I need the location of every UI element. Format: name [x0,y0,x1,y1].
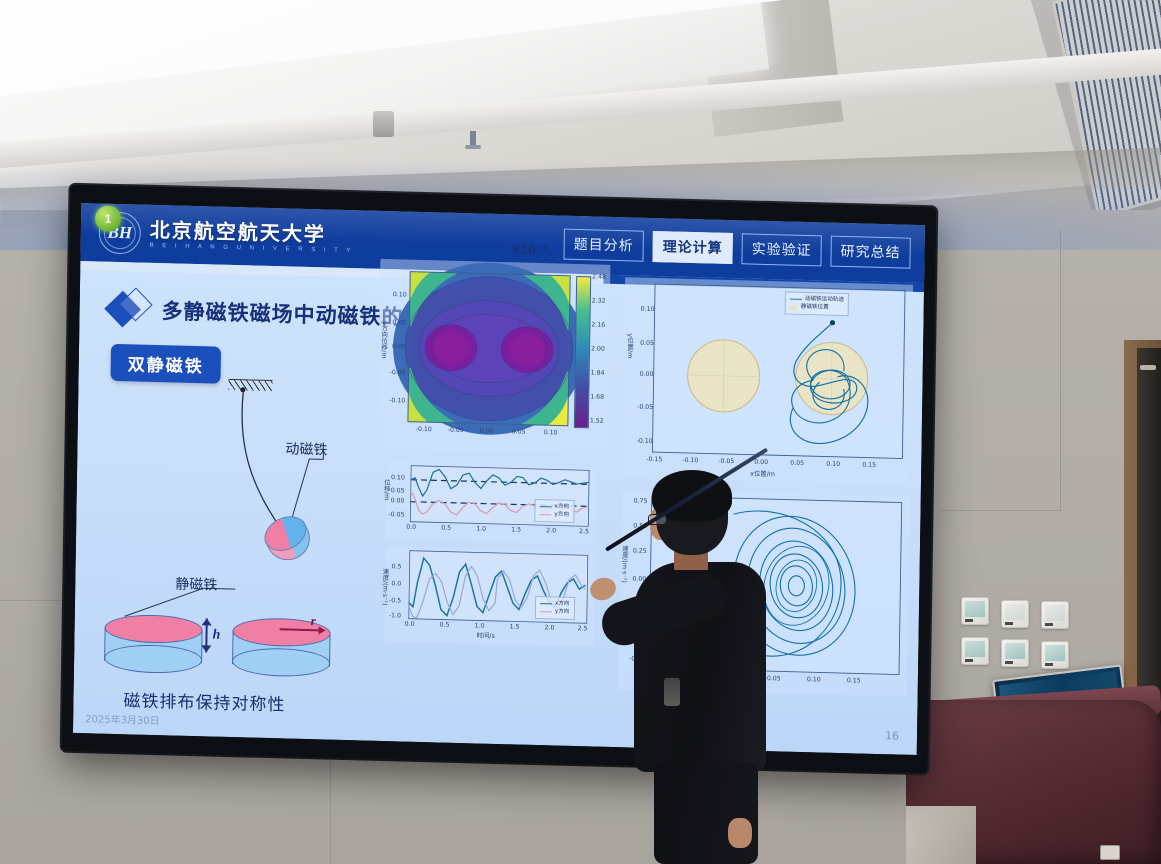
trajectory-xtick: -0.10 [682,457,698,464]
room-scene: BH 北京航空航天大学 B E I H A N G U N I V E R S … [0,0,1161,864]
velocity-xtick: 2.5 [578,625,588,632]
displacement-ylabel: 位移/m [383,479,392,500]
phase-xtick: 0.10 [807,676,821,683]
chart-velocity-time: 0.5 0.0 -0.5 -1.0 0.0 0.5 1.0 1.5 2.0 2.… [384,546,595,646]
power-outlet-icon [1100,845,1120,860]
static-magnet-label: 静磁铁 [175,574,217,595]
wall-switch-3[interactable] [1041,601,1069,629]
contour-ytick: 0.10 [393,291,407,298]
wall-switch-5[interactable] [1001,639,1029,667]
static-magnet-right-icon: r [232,617,329,676]
displacement-ytick: 0.05 [391,487,405,494]
display-screen[interactable]: BH 北京航空航天大学 B E I H A N G U N I V E R S … [62,185,937,774]
velocity-xlabel: 时间/s [476,630,494,639]
trajectory-ytick: -0.10 [637,438,653,445]
displacement-xtick: 0.0 [406,524,416,531]
trajectory-ytick: -0.05 [637,404,653,411]
presentation-slide: BH 北京航空航天大学 B E I H A N G U N I V E R S … [73,203,925,755]
trajectory-xtick: 0.10 [826,461,840,468]
slide-page-number: 16 [885,729,899,742]
contour-ytick: -0.05 [390,369,406,376]
wall-switch-6[interactable] [1041,641,1069,669]
university-logo: BH 北京航空航天大学 B E I H A N G U N I V E R S … [98,211,354,260]
tab-theory-calculation[interactable]: 理论计算 [652,231,732,264]
colorbar [574,276,591,428]
trajectory-legend: 动磁铁运动轨迹 静磁铁位置 [785,291,850,315]
wall-switch-1[interactable] [961,597,989,625]
velocity-xtick: 1.5 [510,623,520,630]
tab-topic-analysis[interactable]: 题目分析 [563,229,643,262]
velocity-ytick: 0.5 [392,563,402,570]
displacement-ytick: 0.10 [391,474,405,481]
tab-experiment-validation[interactable]: 实验验证 [741,233,821,266]
podium-side-panel [906,806,976,864]
contour-xtick: -0.05 [448,427,464,434]
wall-switch-2[interactable] [1001,600,1029,628]
trajectory-ylabel: y位置/m [626,333,635,358]
velocity-ytick: -0.5 [389,597,401,604]
chart-displacement-time: 0.10 0.05 0.00 -0.05 0.0 0.5 1.0 1.5 2.0… [386,461,597,544]
screen-content: BH 北京航空航天大学 B E I H A N G U N I V E R S … [73,203,925,755]
legend-swatch-x [540,603,552,604]
contour-ylabel: y方向位移/m [380,321,390,359]
displacement-xtick: 1.5 [511,526,521,533]
colorbar-tick: 2.16 [591,321,605,328]
radius-label: r [311,613,316,629]
velocity-ytick: 0.0 [391,580,401,587]
legend-label-static-magnet: 静磁铁位置 [801,303,829,312]
trajectory-xtick: 0.05 [790,460,804,467]
magnet-schematic: 动磁铁 静磁铁 r h 磁铁排布保持对称性 [83,333,379,721]
chart-potential-contour: ×10⁻² [377,259,610,455]
height-label: h [212,628,220,644]
moving-magnet-label: 动磁铁 [285,438,327,459]
colorbar-tick: 2.32 [592,297,606,304]
trajectory-curve [622,277,913,485]
contour-ytick: -0.10 [389,397,405,404]
velocity-xtick: 0.5 [440,621,450,628]
contour-xtick: 0.00 [480,427,494,434]
legend-swatch-static-magnet [790,304,798,310]
diamond-icon [107,288,150,331]
displacement-legend: x方向 y方向 [534,499,574,523]
colorbar-tick: 1.68 [590,393,604,400]
contour-xtick: -0.10 [416,426,432,433]
velocity-xtick: 2.0 [545,624,555,631]
velocity-legend: x方向 y方向 [535,596,575,620]
phase-xtick: 0.15 [847,677,861,684]
door-handle[interactable] [1140,365,1156,370]
trajectory-xtick: -0.15 [646,456,662,463]
displacement-xtick: 0.5 [441,525,451,532]
velocity-xtick: 1.0 [475,622,485,629]
colorbar-tick: 2.00 [591,345,605,352]
contour-xtick: 0.05 [512,428,526,435]
trajectory-xtick: 0.00 [754,459,768,466]
trajectory-xtick: 0.15 [862,462,876,469]
trajectory-ytick: 0.10 [641,306,655,313]
contour-xtick: 0.10 [544,429,558,436]
legend-swatch-x [540,506,552,507]
slide-date: 2025年3月30日 [85,710,160,727]
trajectory-ytick: 0.05 [640,340,654,347]
clothing-patch [664,678,680,706]
velocity-ytick: -1.0 [389,612,401,619]
trajectory-xtick: -0.05 [718,458,734,465]
legend-label-x: x方向 [555,502,570,511]
trajectory-ytick: 0.00 [640,371,654,378]
displacement-xtick: 2.5 [579,528,589,535]
height-dimension-arrow [205,618,208,652]
displacement-xtick: 1.0 [476,525,486,532]
contour-sci-notation: ×10⁻² [511,242,548,257]
displacement-ytick: -0.05 [388,511,404,518]
chart-trajectory-xy: 0.10 0.05 0.00 -0.05 -0.10 -0.15 -0.10 -… [622,277,913,485]
velocity-xtick: 0.0 [405,621,415,628]
wall-tile [940,230,1061,511]
presenter-hand-lower [728,818,752,848]
displacement-xtick: 2.0 [546,527,556,534]
legend-label-y: y方向 [554,511,569,520]
velocity-ylabel: 速度/(m·s⁻¹) [381,568,391,606]
tab-research-summary[interactable]: 研究总结 [830,236,910,269]
legend-swatch-y [540,611,552,612]
contour-ytick: 0.05 [392,319,406,326]
colorbar-tick: 2.48 [592,273,606,280]
university-name-cn: 北京航空航天大学 [150,219,354,244]
wall-switch-4[interactable] [961,637,989,665]
legend-swatch-y [539,514,551,515]
colorbar-tick: 1.84 [591,369,605,376]
legend-label-y: y方向 [555,608,570,617]
displacement-ytick: 0.00 [391,497,405,504]
colorbar-tick: 1.52 [590,417,604,424]
static-magnet-left-icon [104,614,201,673]
contour-ytick: 0.00 [392,343,406,350]
presenter-legs [654,762,758,864]
legend-swatch-trajectory [790,298,802,299]
